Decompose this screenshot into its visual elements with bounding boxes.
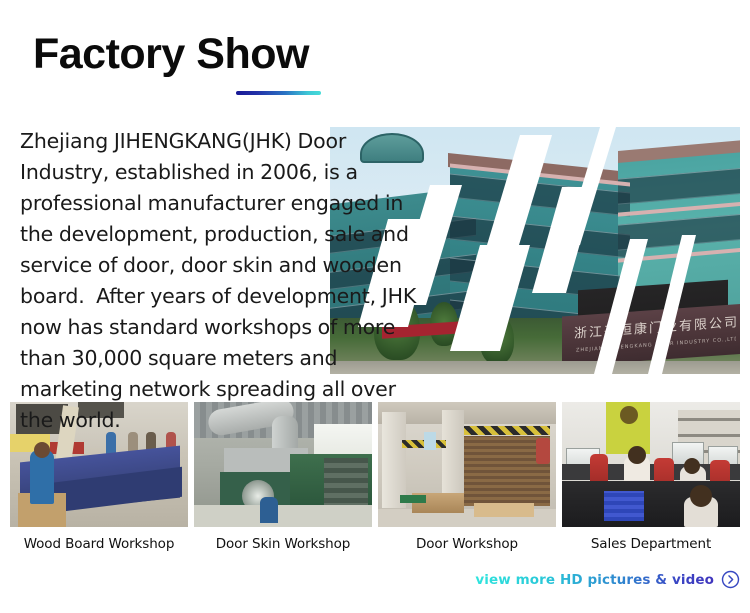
chevron-right-circle-icon[interactable] (721, 570, 740, 589)
view-more-link[interactable]: view more HD pictures & video (475, 570, 740, 589)
view-more-label: view more HD pictures & video (475, 572, 714, 588)
company-intro-paragraph: Zhejiang JIHENGKANG(JHK) Door Industry, … (20, 126, 432, 436)
thumb-sales-department[interactable]: Sales Department (562, 402, 740, 552)
thumb-image-sales-department[interactable] (562, 402, 740, 527)
title-underline-accent (236, 91, 321, 95)
thumb-caption: Wood Board Workshop (10, 536, 188, 552)
thumb-caption: Door Skin Workshop (194, 536, 372, 552)
thumb-caption: Sales Department (562, 536, 740, 552)
page-title: Factory Show (33, 33, 309, 76)
tree (480, 314, 514, 364)
thumb-caption: Door Workshop (378, 536, 556, 552)
